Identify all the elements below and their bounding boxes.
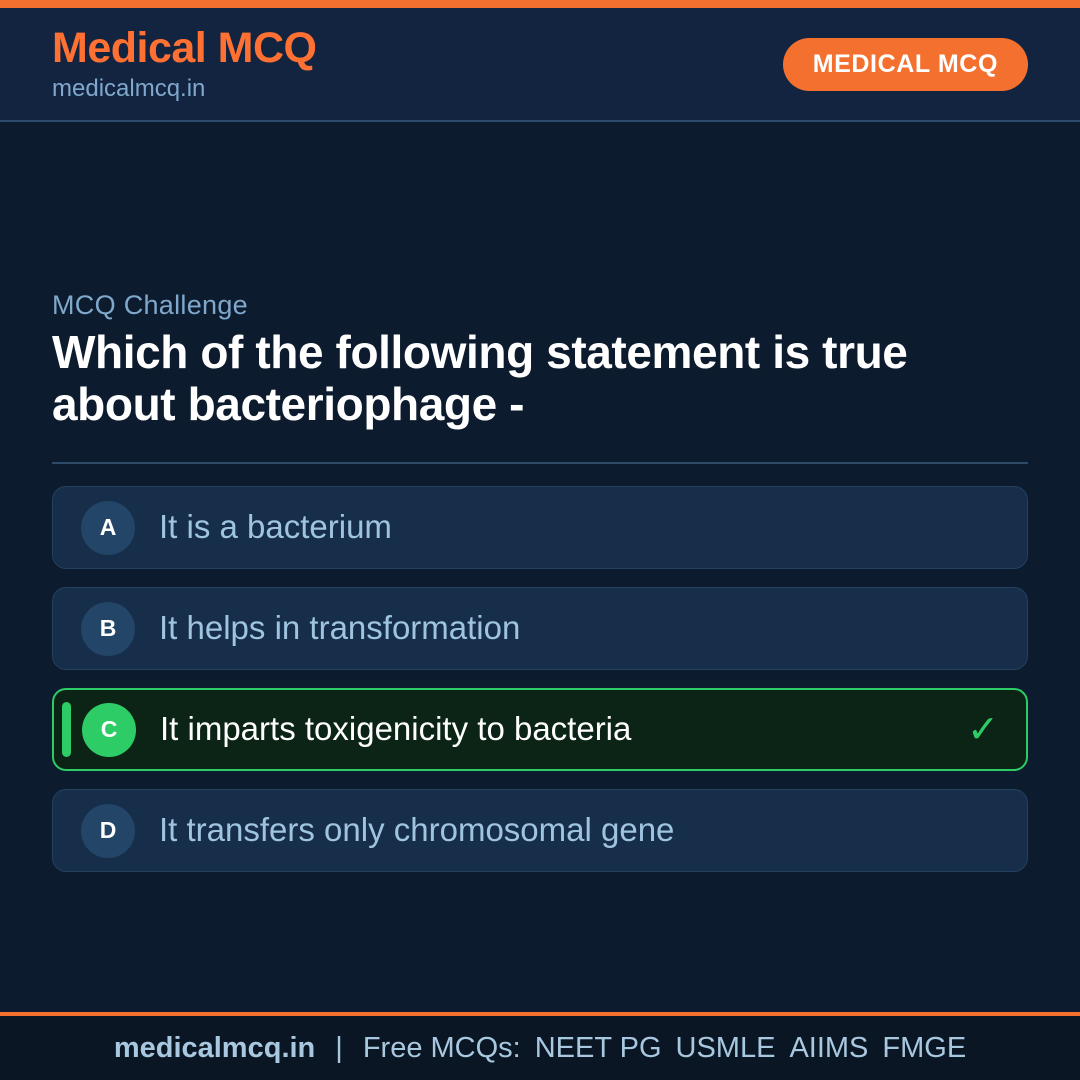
footer-text: medicalmcq.in | Free MCQs: NEET PG USMLE… <box>114 1032 966 1065</box>
brand-title: Medical MCQ <box>52 27 317 70</box>
mcq-card: Medical MCQ medicalmcq.in MEDICAL MCQ MC… <box>0 0 1080 1080</box>
eyebrow-label: MCQ Challenge <box>52 290 1028 321</box>
option-letter-badge: A <box>81 501 135 555</box>
option-letter-badge: D <box>81 804 135 858</box>
options-list: A It is a bacterium B It helps in transf… <box>52 486 1028 872</box>
footer: medicalmcq.in | Free MCQs: NEET PG USMLE… <box>0 1012 1080 1080</box>
footer-exam-neet-pg: NEET PG <box>535 1032 676 1065</box>
footer-exam-fmge: FMGE <box>882 1032 966 1065</box>
header-badge: MEDICAL MCQ <box>783 38 1028 91</box>
page-title: Which of the following statement is true… <box>52 327 1028 430</box>
footer-exam-usmle: USMLE <box>676 1032 790 1065</box>
correct-accent-bar <box>62 702 71 757</box>
footer-separator: | <box>315 1032 363 1065</box>
top-spacer <box>52 122 1028 290</box>
main-content: MCQ Challenge Which of the following sta… <box>0 122 1080 1012</box>
option-a[interactable]: A It is a bacterium <box>52 486 1028 569</box>
check-icon: ✓ <box>966 711 1000 749</box>
option-letter-badge: B <box>81 602 135 656</box>
header: Medical MCQ medicalmcq.in MEDICAL MCQ <box>0 8 1080 122</box>
brand-subtitle: medicalmcq.in <box>52 77 317 101</box>
top-accent-bar <box>0 0 1080 8</box>
footer-exam-aiims: AIIMS <box>789 1032 882 1065</box>
option-text: It is a bacterium <box>159 509 967 545</box>
option-c-correct[interactable]: C It imparts toxigenicity to bacteria ✓ <box>52 688 1028 771</box>
option-b[interactable]: B It helps in transformation <box>52 587 1028 670</box>
option-letter-badge: C <box>82 703 136 757</box>
option-d[interactable]: D It transfers only chromosomal gene <box>52 789 1028 872</box>
footer-site: medicalmcq.in <box>114 1032 315 1065</box>
option-text: It helps in transformation <box>159 610 967 646</box>
option-text: It imparts toxigenicity to bacteria <box>160 711 966 747</box>
option-text: It transfers only chromosomal gene <box>159 812 967 848</box>
title-divider <box>52 462 1028 464</box>
footer-label: Free MCQs: <box>363 1032 535 1065</box>
brand: Medical MCQ medicalmcq.in <box>52 27 317 101</box>
